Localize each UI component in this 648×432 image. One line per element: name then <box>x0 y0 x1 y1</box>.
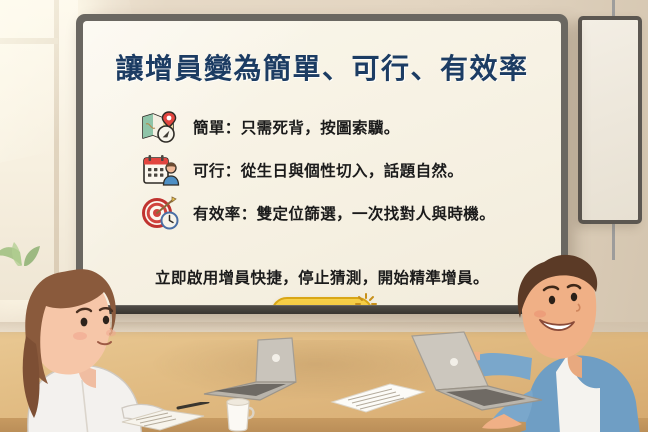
calendar-person-icon <box>141 153 181 187</box>
cta-button[interactable]: 增員快捷 <box>271 297 373 305</box>
bullet-text: 可行：從生日與個性切入，話題自然。 <box>193 159 463 181</box>
bullet-text: 有效率：雙定位篩選，一次找對人與時機。 <box>193 202 495 224</box>
notebook-and-pen <box>120 402 210 432</box>
laptop-right <box>410 330 550 416</box>
laptop-left <box>200 336 324 408</box>
presentation-scene: 讓增員變為簡單、可行、有效率 <box>0 0 648 432</box>
bullet-item: 簡單：只需死背，按圖索驥。 <box>141 105 541 148</box>
hand-cursor-icon <box>369 303 395 305</box>
coffee-mug <box>222 396 256 432</box>
secondary-framed-board <box>578 16 642 224</box>
map-compass-icon <box>141 110 181 144</box>
target-clock-icon <box>141 196 181 230</box>
bullet-list: 簡單：只需死背，按圖索驥。 <box>141 105 541 234</box>
board-title: 讓增員變為簡單、可行、有效率 <box>83 47 561 87</box>
bullet-item: 可行：從生日與個性切入，話題自然。 <box>141 148 541 191</box>
paper-document <box>330 380 426 414</box>
bullet-text: 簡單：只需死背，按圖索驥。 <box>193 116 400 138</box>
